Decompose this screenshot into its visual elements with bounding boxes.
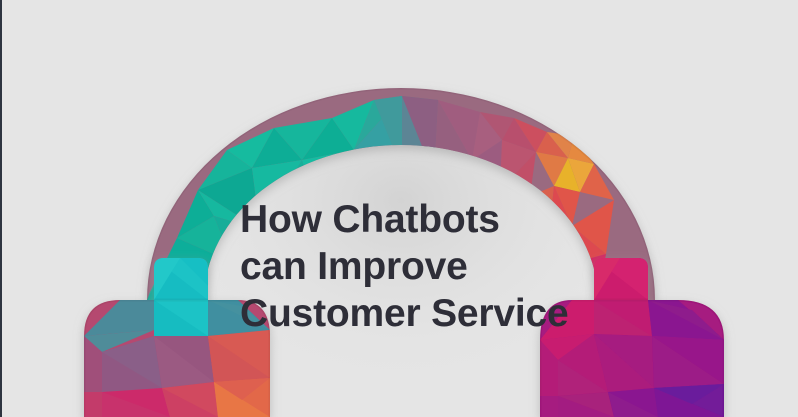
header-graphic-canvas: How Chatbots can Improve Customer Servic… <box>0 0 798 417</box>
low-poly-headphones-illustration <box>2 0 798 417</box>
